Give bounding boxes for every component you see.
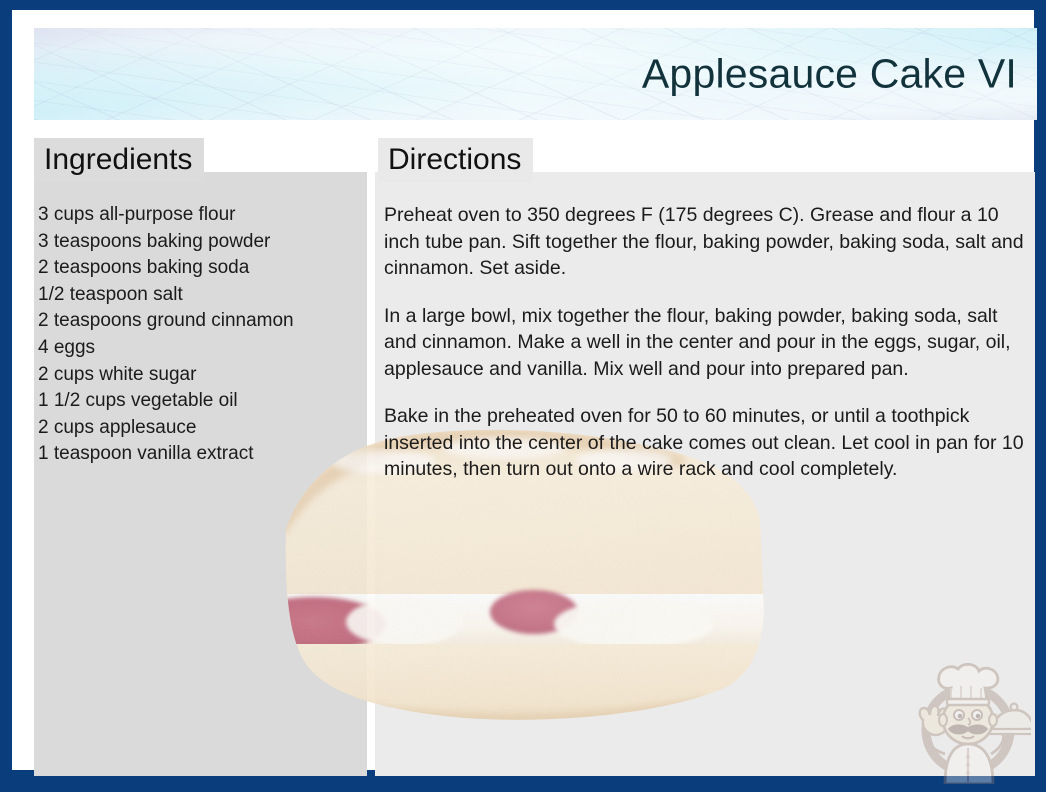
- chef-logo-watermark: [905, 658, 1031, 784]
- header-banner: Applesauce Cake VI: [34, 28, 1037, 120]
- ingredient-item: 3 cups all-purpose flour: [38, 202, 361, 229]
- recipe-title: Applesauce Cake VI: [642, 54, 1017, 95]
- direction-step: Bake in the preheated oven for 50 to 60 …: [384, 403, 1028, 483]
- direction-step: Preheat oven to 350 degrees F (175 degre…: [384, 202, 1028, 282]
- ingredient-item: 1 teaspoon vanilla extract: [38, 441, 361, 468]
- ingredients-panel: 3 cups all-purpose flour 3 teaspoons bak…: [34, 172, 367, 776]
- ingredient-item: 3 teaspoons baking powder: [38, 229, 361, 256]
- page-sheet: Applesauce Cake VI Ingredients Direction…: [12, 10, 1034, 770]
- ingredients-list: 3 cups all-purpose flour 3 teaspoons bak…: [38, 202, 361, 468]
- ingredient-item: 4 eggs: [38, 335, 361, 362]
- direction-step: In a large bowl, mix together the flour,…: [384, 303, 1028, 383]
- ingredient-item: 2 teaspoons baking soda: [38, 255, 361, 282]
- ingredients-heading: Ingredients: [34, 138, 204, 182]
- ingredient-item: 2 cups white sugar: [38, 362, 361, 389]
- ingredient-item: 2 teaspoons ground cinnamon: [38, 308, 361, 335]
- directions-body: Preheat oven to 350 degrees F (175 degre…: [384, 202, 1028, 483]
- ingredient-item: 1 1/2 cups vegetable oil: [38, 388, 361, 415]
- ingredient-item: 1/2 teaspoon salt: [38, 282, 361, 309]
- ingredient-item: 2 cups applesauce: [38, 415, 361, 442]
- recipe-card: Applesauce Cake VI Ingredients Direction…: [0, 0, 1046, 792]
- directions-heading: Directions: [378, 138, 533, 182]
